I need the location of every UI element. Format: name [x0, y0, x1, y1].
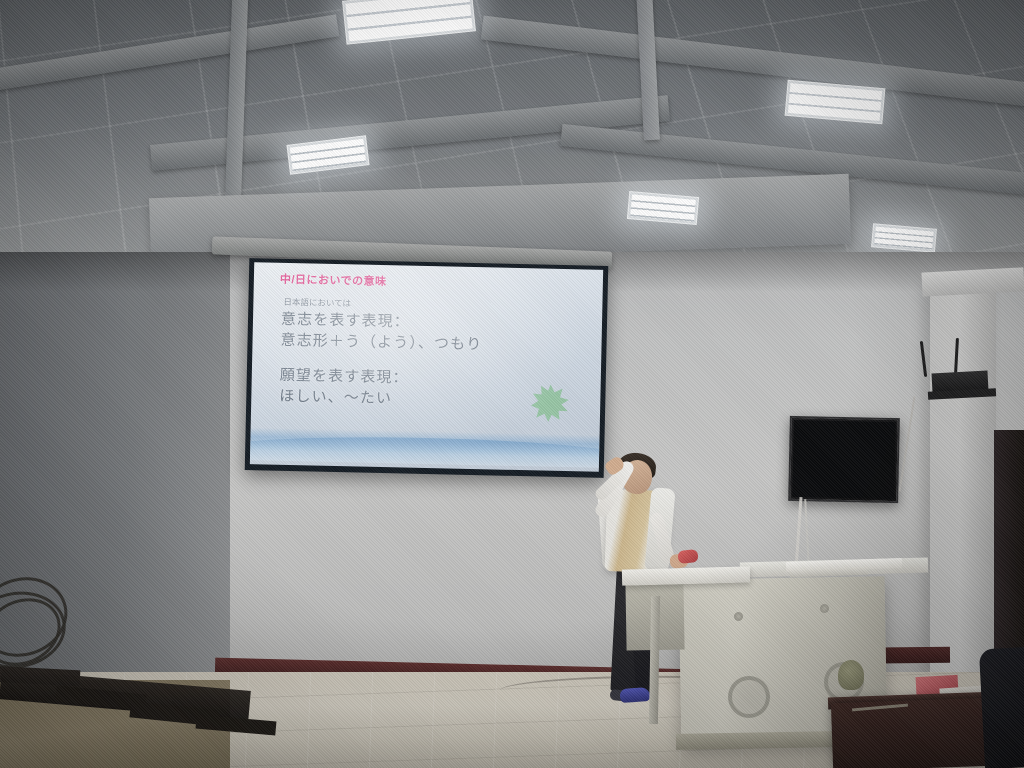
podium-knob	[734, 612, 743, 621]
podium-worktop	[622, 566, 750, 585]
wall-pilaster	[930, 282, 996, 674]
podium-medallion-vent	[728, 676, 770, 718]
podium-knob	[820, 604, 829, 613]
desk-object-green	[838, 660, 864, 690]
blue-wave-decoration	[250, 422, 600, 468]
green-starburst-icon	[530, 382, 571, 423]
presenter-held-object	[677, 549, 698, 564]
projection-screen: 中/日においでの意味 日本語においては 意志を表す表現： 意志形＋う（よう）、つ…	[245, 258, 609, 478]
slide-title: 中/日においでの意味	[280, 271, 387, 289]
ceiling-light-fixture-4	[627, 191, 699, 225]
lecture-room-photo: 中/日においでの意味 日本語においては 意志を表す表現： 意志形＋う（よう）、つ…	[0, 0, 1024, 768]
slide-subtitle: 日本語においては	[283, 296, 351, 309]
seated-person	[979, 647, 1024, 768]
presenter-shoe	[620, 687, 651, 703]
doorway	[994, 430, 1024, 680]
wall-mounted-monitor	[788, 416, 900, 503]
monitor-screen	[792, 420, 896, 499]
presentation-slide: 中/日においでの意味 日本語においては 意志を表す表現： 意志形＋う（よう）、つ…	[250, 262, 603, 472]
